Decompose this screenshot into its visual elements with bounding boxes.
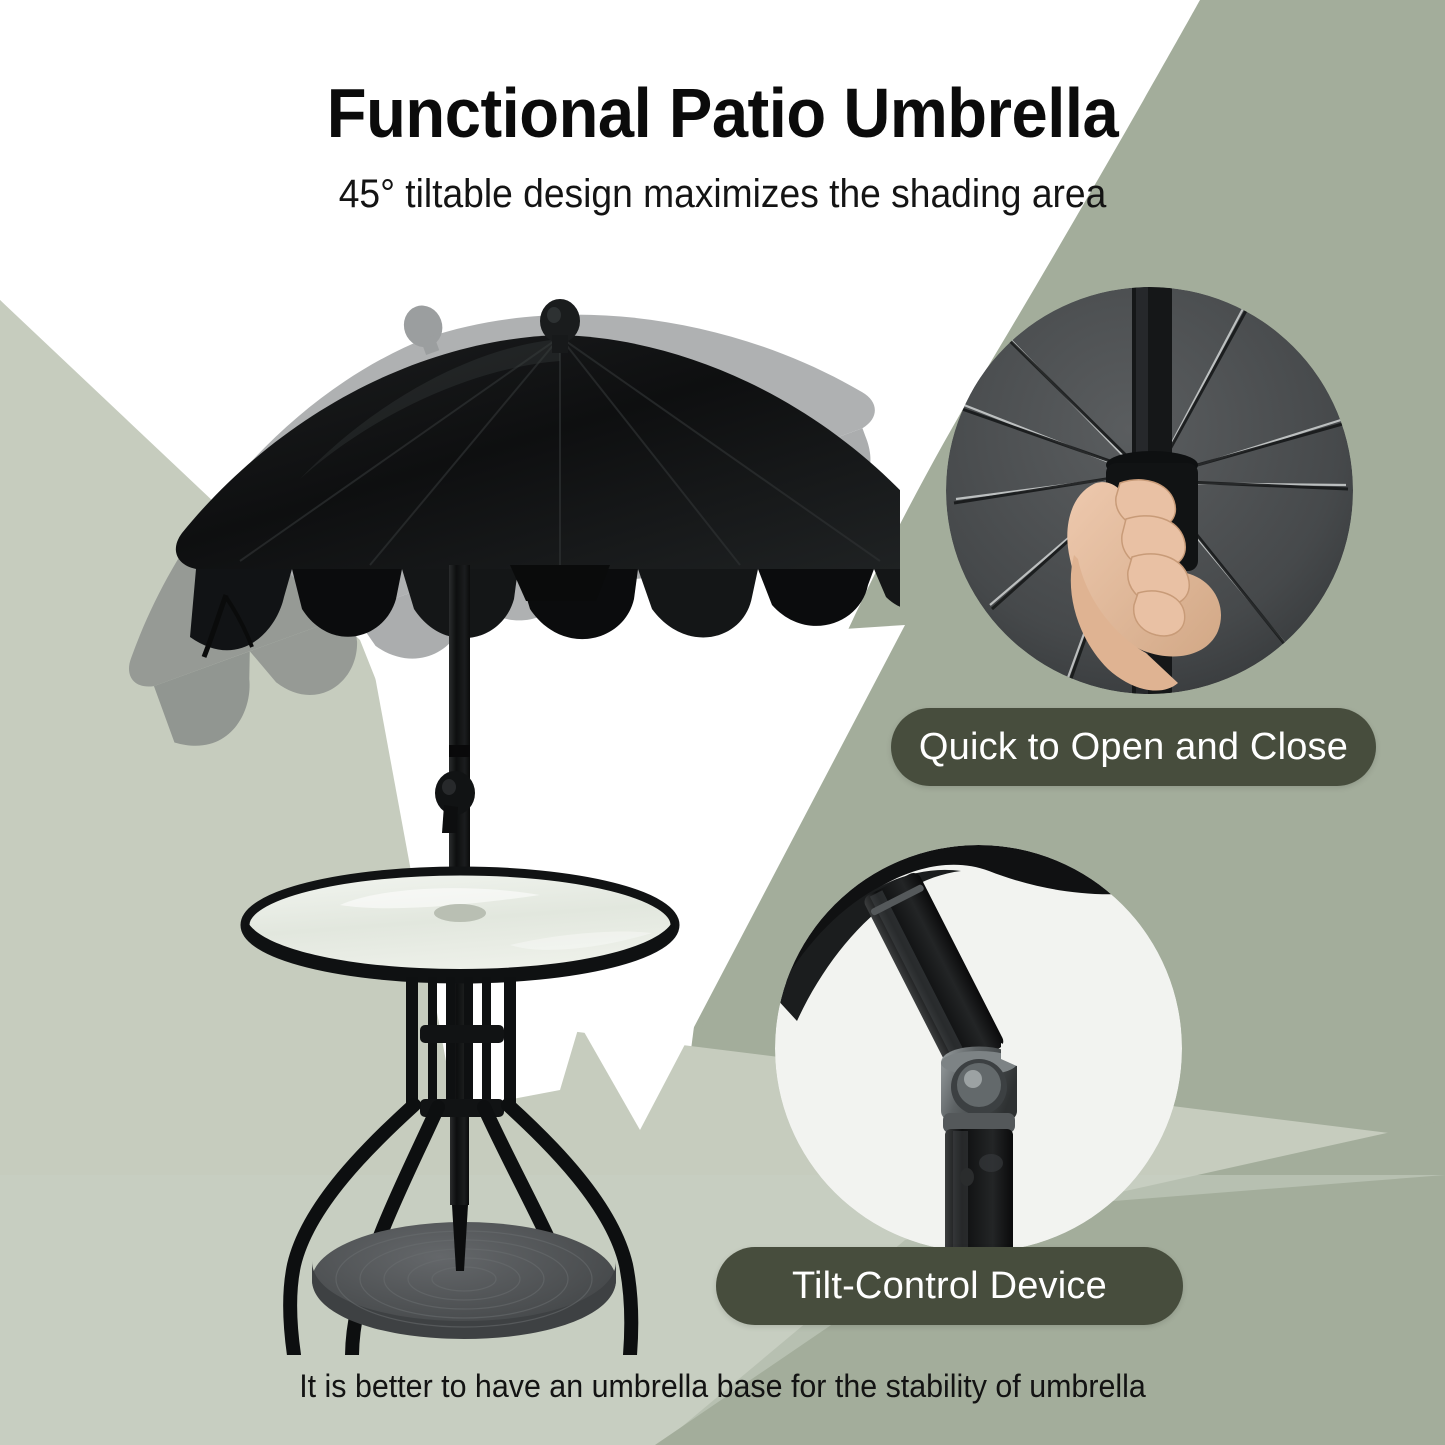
footer-caption: It is better to have an umbrella base fo… xyxy=(36,1368,1409,1405)
feature-badge-tilt-control: Tilt-Control Device xyxy=(716,1247,1183,1325)
feature-photo-open-close xyxy=(946,287,1353,694)
feature-photo-tilt-control xyxy=(775,845,1182,1252)
page-title: Functional Patio Umbrella xyxy=(51,78,1395,148)
product-illustration xyxy=(40,265,900,1355)
product-photo xyxy=(40,265,900,1355)
hand-gripping-umbrella-hub-illustration xyxy=(946,287,1353,694)
product-feature-image: Functional Patio Umbrella 45° tiltable d… xyxy=(0,0,1445,1445)
umbrella-base xyxy=(312,1205,616,1339)
umbrella-pole-tilt-hinge-illustration xyxy=(775,845,1182,1252)
page-subtitle: 45° tiltable design maximizes the shadin… xyxy=(51,172,1395,216)
feature-badge-open-close: Quick to Open and Close xyxy=(891,708,1376,786)
